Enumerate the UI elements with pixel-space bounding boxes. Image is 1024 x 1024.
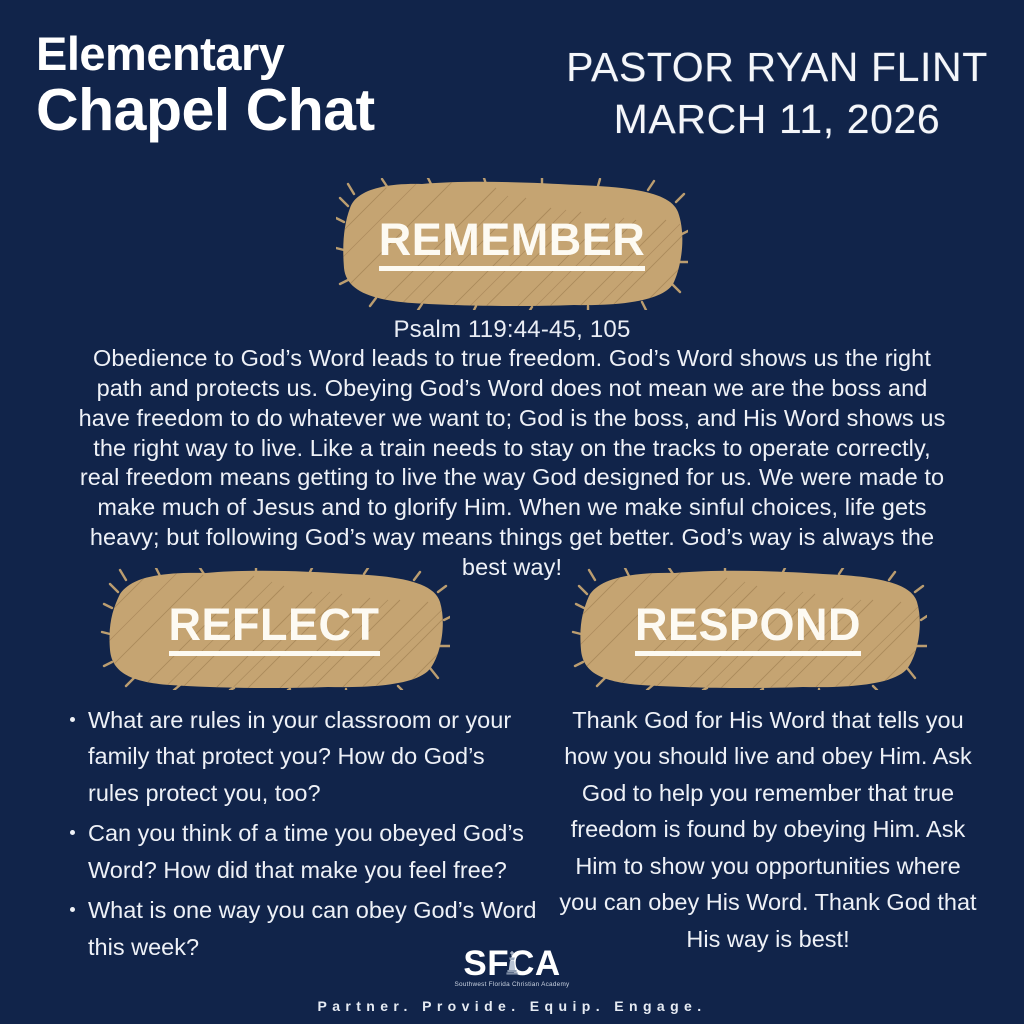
speaker-name: PASTOR RYAN FLINT <box>562 42 992 94</box>
remember-body-text: Obedience to God’s Word leads to true fr… <box>72 344 952 583</box>
event-date: MARCH 11, 2026 <box>562 94 992 146</box>
reflect-badge-label: REFLECT <box>169 602 380 656</box>
poster-header: Elementary Chapel Chat PASTOR RYAN FLINT… <box>0 0 1024 172</box>
lighthouse-emblem-icon <box>502 950 522 977</box>
page-title-line-2: Chapel Chat <box>36 79 576 143</box>
sfca-logo: SFCA Southwest Florida Christian Academy <box>455 946 570 988</box>
reflect-question-list: What are rules in your classroom or your… <box>62 702 542 969</box>
respond-badge: RESPOND <box>569 568 927 690</box>
scripture-reference: Psalm 119:44-45, 105 <box>0 316 1024 344</box>
list-item: What are rules in your classroom or your… <box>62 702 542 811</box>
respond-badge-label: RESPOND <box>635 602 861 656</box>
remember-badge-center: REMEMBER <box>336 217 688 271</box>
page-title-line-1: Elementary <box>36 30 576 77</box>
remember-badge: REMEMBER <box>336 178 688 310</box>
footer-tagline: Partner. Provide. Equip. Engage. <box>0 998 1024 1014</box>
title-block: Elementary Chapel Chat <box>36 30 576 143</box>
respond-body-text: Thank God for His Word that tells you ho… <box>556 702 980 957</box>
respond-badge-center: RESPOND <box>569 602 927 656</box>
chapel-chat-poster: Elementary Chapel Chat PASTOR RYAN FLINT… <box>0 0 1024 1024</box>
speaker-date-block: PASTOR RYAN FLINT MARCH 11, 2026 <box>562 42 992 145</box>
reflect-badge: REFLECT <box>98 568 450 690</box>
list-item: Can you think of a time you obeyed God’s… <box>62 815 542 888</box>
remember-badge-label: REMEMBER <box>379 217 646 271</box>
reflect-badge-center: REFLECT <box>98 602 450 656</box>
poster-footer: SFCA Southwest Florida Christian Academy… <box>0 946 1024 1014</box>
